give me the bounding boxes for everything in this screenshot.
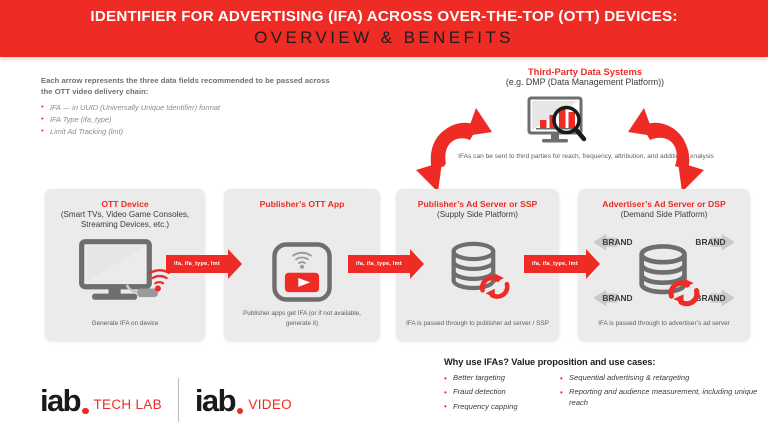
logo-dot-icon <box>82 408 89 415</box>
logo-iab-wordmark: iab <box>40 385 80 416</box>
header-title-line2: OVERVIEW & BENEFITS <box>254 27 514 48</box>
logo-sublabel: TECH LAB <box>94 397 162 412</box>
logo-divider <box>178 378 179 422</box>
flow-arrow-1: ifa, ifa_type, lmt <box>166 249 242 279</box>
stage-caption: IFA is passed through to advertiser’s ad… <box>578 319 750 328</box>
logo-row: iab TECH LAB iab VIDEO <box>40 378 292 422</box>
arrow-head-icon <box>410 249 424 279</box>
brand-label: BRAND <box>602 237 632 247</box>
list-item: Frequency capping <box>444 402 552 412</box>
stage-title: OTT Device <box>45 199 205 209</box>
curved-arrow-right-icon <box>622 92 712 196</box>
third-party-subtitle: (e.g. DMP (Data Management Platform)) <box>440 77 730 87</box>
why-use-ifas-block: Why use IFAs? Value proposition and use … <box>444 357 764 416</box>
stage-subtitle: (Smart TVs, Video Game Consoles, Streami… <box>45 210 205 230</box>
why-use-ifas-title: Why use IFAs? Value proposition and use … <box>444 357 764 367</box>
stage-caption: Generate IFA on device <box>45 319 205 328</box>
page-header: IDENTIFIER FOR ADVERTISING (IFA) ACROSS … <box>0 0 768 57</box>
list-item: Limit Ad Tracking (lmt) <box>41 126 331 138</box>
why-columns: Better targeting Fraud detection Frequen… <box>444 373 764 416</box>
list-item: Reporting and audience measurement, incl… <box>560 387 758 408</box>
list-item: IFA — in UUID (Universally Unique Identi… <box>41 102 331 114</box>
list-item: Fraud detection <box>444 387 552 397</box>
intro-list: IFA — in UUID (Universally Unique Identi… <box>41 102 331 138</box>
why-column-2: Sequential advertising & retargeting Rep… <box>560 373 758 416</box>
curved-arrow-left-icon <box>408 92 494 196</box>
brand-label: BRAND <box>695 237 725 247</box>
list-item: Better targeting <box>444 373 552 383</box>
third-party-title: Third-Party Data Systems <box>455 66 715 77</box>
logo-sublabel: VIDEO <box>248 397 292 412</box>
logo-iab-video: iab VIDEO <box>195 385 292 416</box>
logo-iab-wordmark: iab <box>195 385 235 416</box>
stage-caption: Publisher apps get IFA (or if not availa… <box>224 309 380 328</box>
monitor-bar-chart-magnifier-icon <box>522 96 588 148</box>
flow-arrow-label: ifa, ifa_type, lmt <box>348 255 410 273</box>
brand-label: BRAND <box>602 293 632 303</box>
arrow-head-icon <box>586 249 600 279</box>
brand-label: BRAND <box>695 293 725 303</box>
logo-iab-tech-lab: iab TECH LAB <box>40 385 162 416</box>
stage-card-advertiser-ad-server: Advertiser’s Ad Server or DSP (Demand Si… <box>578 189 750 341</box>
flow-arrow-label: ifa, ifa_type, lmt <box>524 255 586 273</box>
stage-title: Advertiser’s Ad Server or DSP <box>578 199 750 209</box>
database-sync-brand-arrows-icon: BRAND BRAND BRAND BRAND <box>578 235 750 309</box>
list-item: IFA Type (ifa_type) <box>41 114 331 126</box>
logo-dot-icon <box>237 408 244 415</box>
infographic-page: IDENTIFIER FOR ADVERTISING (IFA) ACROSS … <box>0 0 768 432</box>
stage-title: Publisher’s Ad Server or SSP <box>396 199 559 209</box>
flow-arrow-label: ifa, ifa_type, lmt <box>166 255 228 273</box>
list-item: Sequential advertising & retargeting <box>560 373 758 383</box>
stage-caption: IFA is passed through to publisher ad se… <box>396 319 559 328</box>
flow-arrow-3: ifa, ifa_type, lmt <box>524 249 600 279</box>
why-column-1: Better targeting Fraud detection Frequen… <box>444 373 552 416</box>
header-title-line1: IDENTIFIER FOR ADVERTISING (IFA) ACROSS … <box>90 9 677 25</box>
stage-subtitle: (Demand Side Platform) <box>578 210 750 220</box>
flow-arrow-2: ifa, ifa_type, lmt <box>348 249 424 279</box>
arrow-head-icon <box>228 249 242 279</box>
intro-block: Each arrow represents the three data fie… <box>41 76 331 138</box>
stage-subtitle: (Supply Side Platform) <box>396 210 559 220</box>
intro-heading: Each arrow represents the three data fie… <box>41 76 331 98</box>
stage-title: Publisher’s OTT App <box>224 199 380 209</box>
